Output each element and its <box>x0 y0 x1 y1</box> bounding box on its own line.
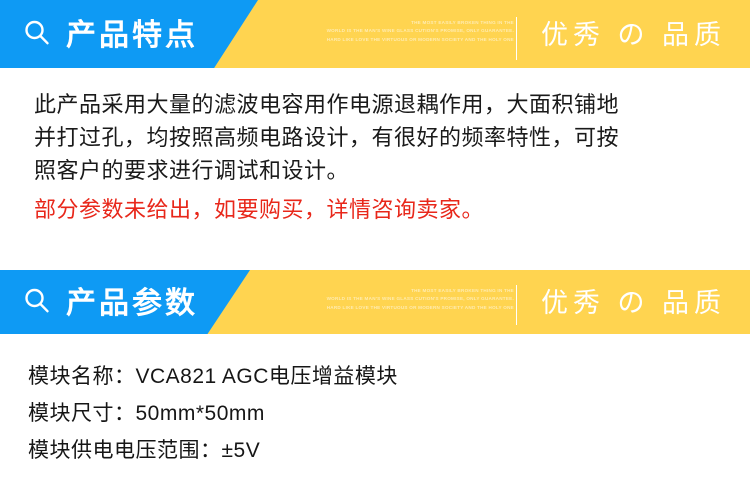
banner-title-text: 产品特点 <box>66 21 198 51</box>
banner-product-specs: 产品参数 THE MOST EASILY BROKEN THING IN THE… <box>0 270 750 334</box>
features-paragraph-line: 并打过孔，均按照高频电路设计，有很好的频率特性，可按 <box>34 121 724 154</box>
spec-row: 模块名称：VCA821 AGC电压增益模块 <box>28 358 728 395</box>
banner-title-group: 产品特点 <box>22 18 198 53</box>
banner-title-text: 产品参数 <box>66 289 198 319</box>
product-features-body: 此产品采用大量的滤波电容用作电源退耦作用，大面积铺地 并打过孔，均按照高频电路设… <box>34 88 724 226</box>
spec-label: 模块供电电压范围： <box>28 439 222 462</box>
spec-row: 模块供电电压范围：±5V <box>28 432 728 469</box>
banner-product-features: 产品特点 THE MOST EASILY BROKEN THING IN THE… <box>0 0 750 68</box>
spec-label: 模块尺寸： <box>28 402 136 425</box>
features-warning-note: 部分参数未给出，如要购买，详情咨询卖家。 <box>34 193 724 226</box>
spec-value: ±5V <box>222 439 261 462</box>
search-icon <box>22 18 52 53</box>
spec-row: 模块尺寸：50mm*50mm <box>28 395 728 432</box>
features-paragraph-line: 照客户的要求进行调试和设计。 <box>34 154 724 187</box>
spec-value: 50mm*50mm <box>136 402 265 425</box>
banner-divider <box>516 17 517 60</box>
spec-label: 模块名称： <box>28 365 136 388</box>
banner-divider <box>516 285 517 325</box>
search-icon <box>22 286 52 321</box>
banner-title-group: 产品参数 <box>22 286 198 321</box>
spec-value: VCA821 AGC电压增益模块 <box>136 365 398 388</box>
features-paragraph-line: 此产品采用大量的滤波电容用作电源退耦作用，大面积铺地 <box>34 88 724 121</box>
banner-slogan: 优秀 の 品质 <box>541 22 726 49</box>
banner-slogan: 优秀 の 品质 <box>541 290 726 317</box>
product-specs-list: 模块名称：VCA821 AGC电压增益模块 模块尺寸：50mm*50mm 模块供… <box>28 358 728 469</box>
